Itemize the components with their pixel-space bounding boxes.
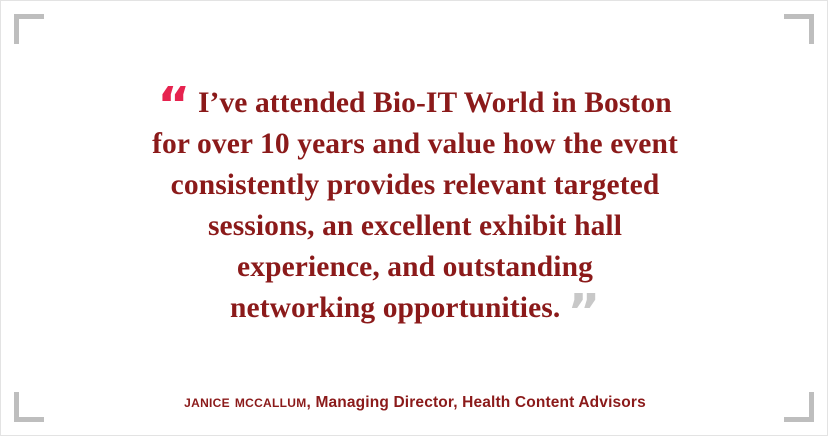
attribution: Janice McCallum, Managing Director, Heal…	[184, 392, 646, 413]
quote-line-5: experience, and outstanding	[95, 247, 735, 288]
quote-text: “I’ve attended Bio-IT World in Boston fo…	[95, 83, 735, 329]
quote-line-1: “I’ve attended Bio-IT World in Boston	[95, 83, 735, 124]
testimonial-content: “I’ve attended Bio-IT World in Boston fo…	[1, 1, 828, 436]
quote-line-6: networking opportunities.”	[95, 288, 735, 329]
quote-line-3: consistently provides relevant targeted	[95, 165, 735, 206]
quote-line-6-text: networking opportunities.	[230, 292, 560, 324]
quote-line-2: for over 10 years and value how the even…	[95, 124, 735, 165]
quote-line-4: sessions, an excellent exhibit hall	[95, 206, 735, 247]
attribution-role: , Managing Director, Health Content Advi…	[307, 394, 646, 411]
attribution-person-name: Janice McCallum	[184, 393, 306, 411]
quote-line-1-text: I’ve attended Bio-IT World in Boston	[198, 87, 672, 119]
testimonial-card: “I’ve attended Bio-IT World in Boston fo…	[0, 0, 828, 436]
